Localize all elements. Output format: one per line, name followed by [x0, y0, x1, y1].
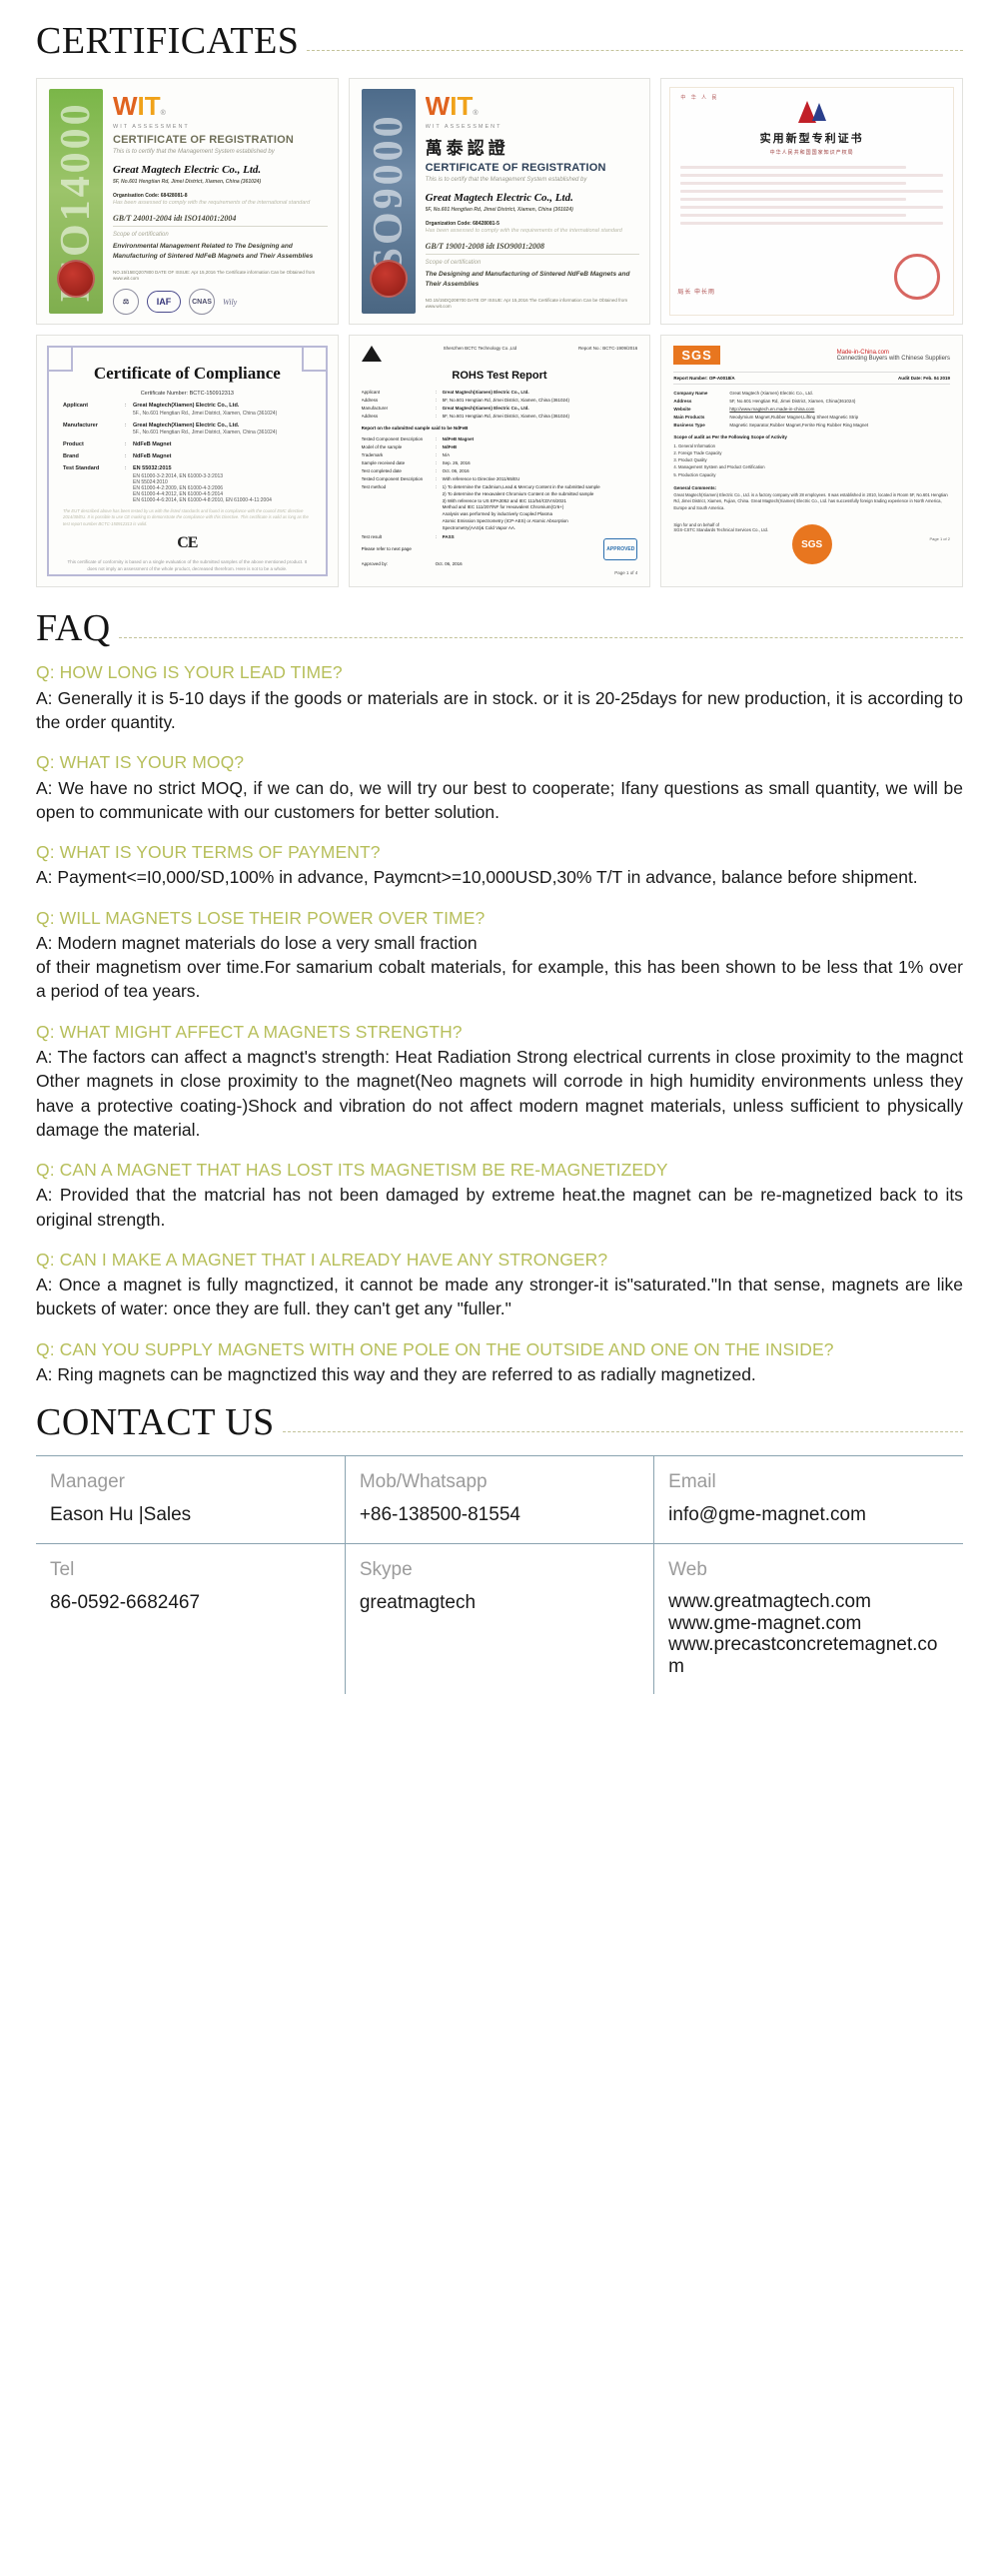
rohs-title: ROHS Test Report [362, 370, 638, 382]
row-value: NdFeB Magnet [133, 453, 172, 459]
rohs-row: Test completed date : Oct. 06, 2016 [362, 468, 638, 473]
certificate-intro: This is to certify that the Management S… [426, 176, 640, 185]
rohs-row: Manufacturer : Great Magtech(Xiamen) Ele… [362, 406, 638, 411]
row-value: 5F, No.601 Hengtian Rd, Jimei District, … [443, 398, 569, 403]
rohs-row: Model of the sample : NdFeB [362, 444, 638, 449]
certificate-iso9000[interactable]: ISO9000 W I T ® WIT ASSESSMENT 萬泰認證 CERT… [349, 78, 651, 325]
certificate-assessed-text: Has been assessed to comply with the req… [426, 227, 640, 236]
row-label: Manufacturer [362, 406, 436, 411]
rohs-page-number: Page 1 of 4 [362, 570, 638, 575]
rohs-detail-block: Tested Component Description : NdFeB Mag… [362, 436, 638, 539]
row-value: 5F, No.601 Hengtian Rd, Jimei District, … [729, 399, 855, 404]
patent-title: 实用新型专利证书 [680, 130, 943, 146]
certificates-grid-row2: Certificate of Compliance Certificate Nu… [0, 325, 999, 587]
sgs-logo: SGS [673, 346, 719, 365]
row-label: Test result [362, 534, 436, 539]
colon: : [436, 398, 443, 403]
contact-label: Skype [360, 1556, 639, 1585]
contact-label: Mob/Whatsapp [360, 1468, 639, 1497]
row-label: Manufacturer [63, 423, 125, 436]
faq-question: Q: CAN YOU SUPPLY MAGNETS WITH ONE POLE … [36, 1338, 963, 1362]
contact-cell-tel: Tel 86-0592-6682467 [36, 1544, 345, 1694]
contact-section-header: CONTACT US [0, 1403, 999, 1441]
ornament-corner-icon [47, 346, 73, 372]
row-label: Tested Component Description [362, 436, 436, 441]
colon: : [436, 484, 443, 531]
certificate-assessed-text: Has been assessed to comply with the req… [113, 199, 328, 208]
colon: : [125, 403, 133, 417]
contact-label: Web [668, 1556, 949, 1585]
row-label: Model of the sample [362, 444, 436, 449]
rohs-row: Test result : PASS [362, 534, 638, 539]
faq-answer: A: Provided that the matcrial has not be… [36, 1183, 963, 1231]
certificate-scope-label: Scope of certification [113, 232, 328, 238]
row-value: PASS [443, 534, 455, 539]
sgs-general-comments-body: Great Magtech(Xiamen) Electric Co., Ltd.… [673, 492, 950, 512]
colon: : [125, 465, 133, 503]
row-label: Trademark [362, 452, 436, 457]
cnas-badge: CNAS [189, 289, 215, 315]
rohs-approval-date: Oct. 06, 2016 [436, 561, 463, 566]
faq-item: Q: HOW LONG IS YOUR LEAD TIME? A: Genera… [36, 661, 963, 734]
wit-logo-w: W [113, 91, 136, 122]
red-seal-icon [57, 260, 95, 298]
certificates-section-header: CERTIFICATES [0, 22, 999, 60]
faq-item: Q: WHAT IS YOUR TERMS OF PAYMENT? A: Pay… [36, 841, 963, 890]
mic-subtitle: Connecting Buyers with Chinese Suppliers [837, 356, 950, 362]
row-value: NdFeB Magnet [133, 441, 172, 447]
compliance-row: Applicant : Great Magtech(Xiamen) Electr… [63, 403, 312, 417]
contact-value[interactable]: info@gme-magnet.com [668, 1503, 949, 1527]
certificate-company: Great Magtech Electric Co., Ltd. [113, 164, 328, 176]
certificate-meta: NO.15/15DQ208700 DATE OF ISSUE: Apr 15,2… [426, 298, 640, 312]
rohs-report-number: Report No.: BCTC-1909/2016 [578, 346, 637, 351]
certificate-address: 5F, No.601 Hengtian Rd, Jimei District, … [113, 179, 328, 185]
rohs-row: Applicant : Great Magtech(Xiamen) Electr… [362, 390, 638, 395]
certificate-standard: GB/T 19001-2008 idt ISO9001:2008 [426, 242, 640, 255]
patent-line [680, 222, 943, 225]
colon: : [436, 406, 443, 411]
page-title-contact: CONTACT US [36, 1403, 283, 1441]
sgs-row: Address 5F, No.601 Hengtian Rd, Jimei Di… [673, 399, 950, 404]
patent-line [680, 190, 943, 193]
certificate-body: W I T ® WIT ASSESSMENT CERTIFICATE OF RE… [113, 91, 328, 316]
faq-item: Q: CAN A MAGNET THAT HAS LOST ITS MAGNET… [36, 1159, 963, 1232]
registered-trademark-icon: ® [473, 110, 478, 117]
sgs-scope-item: 1. General Information [673, 442, 950, 449]
row-value-main: Great Magtech(Xiamen) Electric Co., Ltd. [133, 423, 239, 429]
compliance-footer-note: The EUT described above has been tested … [63, 508, 312, 528]
sgs-general-comments-label: General Comments: [673, 485, 950, 490]
row-value: N/A [443, 452, 451, 457]
colon: : [125, 423, 133, 436]
row-value: Great Magtech (Xiamen) Electric Co., Ltd… [729, 391, 813, 396]
contact-cell-manager: Manager Eason Hu |Sales [36, 1456, 345, 1544]
compliance-body: Certificate of Compliance Certificate Nu… [47, 346, 328, 576]
row-value-sub: 5F., No.601 Hengtian Rd., Jimei District… [133, 411, 277, 417]
faq-item: Q: CAN YOU SUPPLY MAGNETS WITH ONE POLE … [36, 1338, 963, 1387]
compliance-row: Manufacturer : Great Magtech(Xiamen) Ele… [63, 423, 312, 436]
product-detail-page: CERTIFICATES ISO14000 W I T ® WIT ASSESS… [0, 22, 999, 2576]
signature: Wily [223, 298, 237, 307]
sgs-scope-title: Scope of audit as Per the Following Scop… [673, 434, 950, 439]
certificate-patent[interactable]: 中 华 人 民 实用新型专利证书 中华人民共和国国家知识产权局 [660, 78, 963, 325]
rohs-approval: Approved by: Oct. 06, 2016 [362, 561, 638, 566]
rohs-sample-note: Report on the submitted sample said to b… [362, 426, 638, 430]
faq-item: Q: WILL MAGNETS LOSE THEIR POWER OVER TI… [36, 907, 963, 1004]
row-label: Main Products [673, 415, 729, 420]
wit-logo-t: T [145, 91, 159, 122]
colon: : [436, 452, 443, 457]
patent-line [680, 174, 943, 177]
sgs-report-number: Report Number: OP-A0018/A [673, 376, 734, 381]
table-row: Manager Eason Hu |Sales Mob/Whatsapp +86… [36, 1456, 963, 1544]
certificate-body: W I T ® WIT ASSESSMENT 萬泰認證 CERTIFICATE … [426, 91, 640, 316]
row-value: Magnetic Separator,Rubber Magnet,Ferrite… [729, 423, 868, 428]
patent-subtitle: 中华人民共和国国家知识产权局 [680, 149, 943, 156]
certificate-compliance[interactable]: Certificate of Compliance Certificate Nu… [36, 335, 339, 587]
contact-table: Manager Eason Hu |Sales Mob/Whatsapp +86… [36, 1455, 963, 1694]
contact-cell-email: Email info@gme-magnet.com [654, 1456, 963, 1544]
contact-value[interactable]: www.greatmagtech.com www.gme-magnet.com … [668, 1591, 949, 1678]
certificate-iso14000[interactable]: ISO14000 W I T ® WIT ASSESSMENT CERTIFIC… [36, 78, 339, 325]
contact-cell-skype: Skype greatmagtech [345, 1544, 653, 1694]
colon: : [436, 534, 443, 539]
certificate-rohs[interactable]: Shenzhen BCTC Technology Co.,Ltd Report … [349, 335, 651, 587]
certificate-sgs[interactable]: SGS Made-in-China.com Connecting Buyers … [660, 335, 963, 587]
patent-red-seal-icon [894, 254, 940, 300]
iso-side-band: ISO14000 [49, 89, 103, 314]
row-label: Tested Component Description [362, 476, 436, 481]
faq-answer: A: Modern magnet materials do lose a ver… [36, 931, 963, 1003]
contact-value[interactable]: 86-0592-6682467 [50, 1591, 331, 1615]
approved-stamp-icon: APPROVED [603, 538, 637, 560]
wit-logo-i: I [450, 91, 455, 122]
patent-line [680, 166, 906, 169]
iaf-badge: IAF [147, 291, 181, 313]
faq-question: Q: CAN A MAGNET THAT HAS LOST ITS MAGNET… [36, 1159, 963, 1183]
row-label: Address [673, 399, 729, 404]
row-value-main: Great Magtech(Xiamen) Electric Co., Ltd. [133, 403, 239, 409]
row-label: Test completed date [362, 468, 436, 473]
compliance-title: Certificate of Compliance [63, 364, 312, 384]
made-in-china-logo: Made-in-China.com Connecting Buyers with… [837, 350, 950, 362]
wit-logo-t: T [457, 91, 471, 122]
colon: : [436, 436, 443, 441]
sgs-scope-item: 4. Management System and Product Certifi… [673, 463, 950, 470]
iso-side-band: ISO9000 [362, 89, 416, 314]
row-label: Test method [362, 484, 436, 531]
row-value: Great Magtech(Xiamen) Electric Co., Ltd. [443, 390, 529, 395]
compliance-row: Product : NdFeB Magnet [63, 441, 312, 447]
sgs-scope-item: 5. Production Capacity [673, 471, 950, 478]
faq-item: Q: CAN I MAKE A MAGNET THAT I ALREADY HA… [36, 1249, 963, 1321]
red-seal-icon [370, 260, 408, 298]
sgs-row: Main Products Neodymium Magnet,Rubber Ma… [673, 415, 950, 420]
row-value: NdFeB Magnet [443, 436, 475, 441]
wit-logo: W I T ® [426, 91, 640, 122]
contact-section: Manager Eason Hu |Sales Mob/Whatsapp +86… [0, 1441, 999, 1694]
row-label: Address [362, 398, 436, 403]
row-value-main: EN 55032:2015 [133, 465, 172, 471]
faq-question: Q: WILL MAGNETS LOSE THEIR POWER OVER TI… [36, 907, 963, 931]
row-value: Oct. 06, 2016 [443, 468, 470, 473]
contact-value: Eason Hu |Sales [50, 1503, 331, 1527]
rohs-row: Address : 5F, No.601 Hengtian Rd, Jimei … [362, 414, 638, 419]
faq-list: Q: HOW LONG IS YOUR LEAD TIME? A: Genera… [0, 647, 999, 1386]
contact-value[interactable]: greatmagtech [360, 1591, 639, 1615]
registered-trademark-icon: ® [161, 110, 166, 117]
row-value-main: NdFeB Magnet [133, 453, 172, 459]
faq-answer: A: Payment<=I0,000/SD,100% in advance, P… [36, 865, 963, 889]
row-value: Great Magtech(Xiamen) Electric Co., Ltd.… [133, 423, 277, 436]
bctc-logo-icon [362, 346, 382, 362]
faq-item: Q: WHAT IS YOUR MOQ? A: We have no stric… [36, 751, 963, 824]
faq-answer: A: The factors can affect a magnct's str… [36, 1045, 963, 1142]
certificates-grid-row1: ISO14000 W I T ® WIT ASSESSMENT CERTIFIC… [0, 60, 999, 325]
row-label: Company Name [673, 391, 729, 396]
colon: : [436, 476, 443, 481]
faq-answer: A: Generally it is 5-10 days if the good… [36, 686, 963, 734]
accreditation-badges: ⚖ IAF CNAS Wily [113, 289, 328, 315]
sgs-scope-list: 1. General Information 2. Foreign Trade … [673, 442, 950, 478]
patent-line [680, 198, 906, 201]
faq-question: Q: WHAT MIGHT AFFECT A MAGNETS STRENGTH? [36, 1021, 963, 1045]
row-label: Address [362, 414, 436, 419]
compliance-row: Brand : NdFeB Magnet [63, 453, 312, 459]
row-label: Sample received date [362, 460, 436, 465]
contact-label: Tel [50, 1556, 331, 1585]
rohs-row: Trademark : N/A [362, 452, 638, 457]
contact-cell-web: Web www.greatmagtech.com www.gme-magnet.… [654, 1544, 963, 1694]
row-label: Test Standard [63, 465, 125, 503]
certificate-chinese-name: 萬泰認證 [426, 134, 640, 159]
rohs-body: Shenzhen BCTC Technology Co.,Ltd Report … [362, 346, 638, 578]
patent-top-text: 中 华 人 民 [680, 94, 943, 101]
certificate-company: Great Magtech Electric Co., Ltd. [426, 192, 640, 204]
page-title-faq: FAQ [36, 609, 119, 647]
faq-section-header: FAQ [0, 609, 999, 647]
rohs-header: Shenzhen BCTC Technology Co.,Ltd Report … [362, 346, 638, 362]
patent-emblem-shape-blue [812, 103, 826, 121]
rohs-row: Tested Component Description : With refe… [362, 476, 638, 481]
contact-cell-whatsapp: Mob/Whatsapp +86-138500-81554 [345, 1456, 653, 1544]
faq-question: Q: HOW LONG IS YOUR LEAD TIME? [36, 661, 963, 685]
certificate-heading: CERTIFICATE OF REGISTRATION [113, 134, 328, 146]
certificate-address: 5F, No.601 Hengtian Rd, Jimei District, … [426, 207, 640, 213]
sgs-scope-item: 3. Product Quality [673, 456, 950, 463]
colon: : [125, 453, 133, 459]
row-value: NdFeB [443, 444, 458, 449]
row-label: Brand [63, 453, 125, 459]
row-value: Neodymium Magnet,Rubber Magnet,Lifting S… [729, 415, 858, 420]
rohs-lab-name: Shenzhen BCTC Technology Co.,Ltd [444, 346, 516, 351]
row-value: EN 55032:2015 EN 61000-3-2:2014, EN 6100… [133, 465, 272, 503]
contact-label: Manager [50, 1468, 331, 1497]
faq-item: Q: WHAT MIGHT AFFECT A MAGNETS STRENGTH?… [36, 1021, 963, 1142]
row-label: Business Type [673, 423, 729, 428]
sgs-row: Company Name Great Magtech (Xiamen) Elec… [673, 391, 950, 396]
row-value: 5F, No.601 Hengtian Rd, Jimei District, … [443, 414, 569, 419]
sgs-website-link[interactable]: http://www.magtech.en.made-in-china.com [729, 407, 814, 412]
faq-answer: A: Ring magnets can be magnctized this w… [36, 1362, 963, 1386]
certificate-intro: This is to certify that the Management S… [113, 148, 328, 157]
certificate-scope: The Designing and Manufacturing of Sinte… [426, 270, 640, 291]
row-value-sub: 5F., No.601 Hengtian Rd., Jimei District… [133, 429, 277, 435]
row-value-sub: EN 61000-3-2:2014, EN 61000-3-3:2013 EN … [133, 473, 272, 503]
sgs-row: Business Type Magnetic Separator,Rubber … [673, 423, 950, 428]
ce-mark-icon: CE [63, 534, 312, 552]
row-label: Applicant [362, 390, 436, 395]
patent-signature: 局长 申长雨 [677, 287, 715, 296]
dashed-divider [119, 637, 963, 638]
row-label: Applicant [63, 403, 125, 417]
contact-value[interactable]: +86-138500-81554 [360, 1503, 639, 1527]
row-value: 1) To determine the Cadmium,Lead & Mercu… [443, 484, 600, 531]
row-label: Product [63, 441, 125, 447]
certificate-meta: NO.15/15EQ207800 DATE OF ISSUE: Apr 15,2… [113, 270, 328, 284]
certificate-scope: Environmental Management Related to The … [113, 242, 328, 263]
wit-logo-w: W [426, 91, 449, 122]
cnas-badge-icon: ⚖ [113, 289, 139, 315]
ornament-corner-icon [302, 346, 328, 372]
rohs-row: Tested Component Description : NdFeB Mag… [362, 436, 638, 441]
table-row: Tel 86-0592-6682467 Skype greatmagtech W… [36, 1544, 963, 1694]
patent-line [680, 214, 906, 217]
wit-logo-i: I [138, 91, 143, 122]
dashed-divider [283, 1431, 963, 1432]
approved-by-label: Approved by: [362, 561, 436, 566]
faq-question: Q: WHAT IS YOUR TERMS OF PAYMENT? [36, 841, 963, 865]
faq-question: Q: WHAT IS YOUR MOQ? [36, 751, 963, 775]
page-title-certificates: CERTIFICATES [36, 22, 307, 60]
patent-line [680, 182, 906, 185]
faq-answer: A: Once a magnet is fully magnctized, it… [36, 1273, 963, 1320]
faq-answer: A: We have no strict MOQ, if we can do, … [36, 776, 963, 824]
patent-emblem-icon [680, 101, 943, 123]
colon: : [436, 460, 443, 465]
row-value: Great Magtech(Xiamen) Electric Co., Ltd. [443, 406, 529, 411]
compliance-certificate-number: Certificate Number: BCTC-150912313 [63, 391, 312, 397]
row-value: Sep. 26, 2016 [443, 460, 471, 465]
compliance-bottom-note: This certificate of conformity is based … [63, 558, 312, 572]
sgs-scope-item: 2. Foreign Trade Capacity [673, 449, 950, 456]
rohs-row: Sample received date : Sep. 26, 2016 [362, 460, 638, 465]
contact-label: Email [668, 1468, 949, 1497]
wit-logo: W I T ® [113, 91, 328, 122]
rohs-conclusion: Please refer to next page [362, 546, 638, 551]
rohs-row: Address : 5F, No.601 Hengtian Rd, Jimei … [362, 398, 638, 403]
row-value: Great Magtech(Xiamen) Electric Co., Ltd.… [133, 403, 277, 417]
sgs-header: SGS Made-in-China.com Connecting Buyers … [673, 346, 950, 365]
sgs-company-block: Company Name Great Magtech (Xiamen) Elec… [673, 391, 950, 428]
colon: : [436, 444, 443, 449]
colon: : [436, 390, 443, 395]
certificate-scope-label: Scope of certification [426, 260, 640, 266]
certificate-heading: CERTIFICATE OF REGISTRATION [426, 162, 640, 174]
colon: : [436, 414, 443, 419]
compliance-row: Test Standard : EN 55032:2015 EN 61000-3… [63, 465, 312, 503]
row-value-main: NdFeB Magnet [133, 441, 172, 447]
certificate-standard: GB/T 24001-2004 idt ISO14001:2004 [113, 214, 328, 227]
rohs-row: Test method : 1) To determine the Cadmiu… [362, 484, 638, 531]
wit-logo-subtitle: WIT ASSESSMENT [426, 124, 640, 130]
sgs-row: Website http://www.magtech.en.made-in-ch… [673, 407, 950, 412]
rohs-applicant-block: Applicant : Great Magtech(Xiamen) Electr… [362, 390, 638, 419]
wit-logo-subtitle: WIT ASSESSMENT [113, 124, 328, 130]
dashed-divider [307, 50, 963, 51]
row-value: With reference to Directive 2011/65/EU [443, 476, 520, 481]
colon: : [125, 441, 133, 447]
sgs-audit-date: Audit Date: Feb. 04 2019 [898, 376, 950, 381]
colon: : [436, 468, 443, 473]
row-label: Website [673, 407, 729, 412]
sgs-round-seal-icon: SGS [792, 524, 832, 564]
patent-text-lines [680, 166, 943, 225]
faq-question: Q: CAN I MAKE A MAGNET THAT I ALREADY HA… [36, 1249, 963, 1273]
sgs-report-bar: Report Number: OP-A0018/A Audit Date: Fe… [673, 372, 950, 385]
patent-line [680, 206, 943, 209]
